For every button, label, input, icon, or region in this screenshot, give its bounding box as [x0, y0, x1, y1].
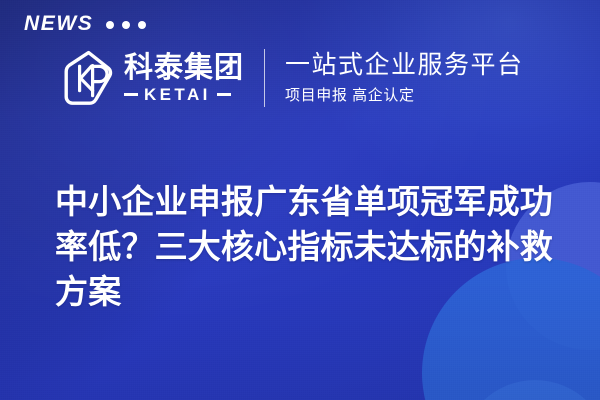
news-label: NEWS	[24, 13, 93, 34]
news-eyebrow: NEWS	[24, 13, 146, 34]
brand-name-cn: 科泰集团	[124, 54, 244, 84]
ketai-diamond-monogram-icon	[62, 49, 116, 107]
rule-right-icon	[217, 93, 231, 96]
brand-name-en-row: KETAI	[124, 86, 244, 103]
rule-left-icon	[124, 93, 138, 96]
news-banner: NEWS	[0, 0, 600, 400]
brand-name-en: KETAI	[144, 86, 211, 103]
eyebrow-dot-icon	[138, 21, 146, 29]
brand-divider	[264, 49, 265, 107]
brand-wordmark: 科泰集团 KETAI	[124, 54, 244, 104]
tagline-block: 一站式企业服务平台 项目申报 高企认定	[285, 51, 524, 105]
tagline-sub: 项目申报 高企认定	[285, 87, 524, 105]
eyebrow-dots-icon	[106, 19, 146, 29]
eyebrow-dot-icon	[106, 21, 114, 29]
banner-content: NEWS	[0, 0, 600, 400]
brand-lockup: 科泰集团 KETAI 一站式企业服务平台 项目申报 高企认定	[62, 45, 524, 111]
tagline-main: 一站式企业服务平台	[285, 51, 524, 80]
eyebrow-dot-icon	[122, 21, 130, 29]
headline-title: 中小企业申报广东省单项冠军成功率低？三大核心指标未达标的补救方案	[55, 180, 568, 315]
